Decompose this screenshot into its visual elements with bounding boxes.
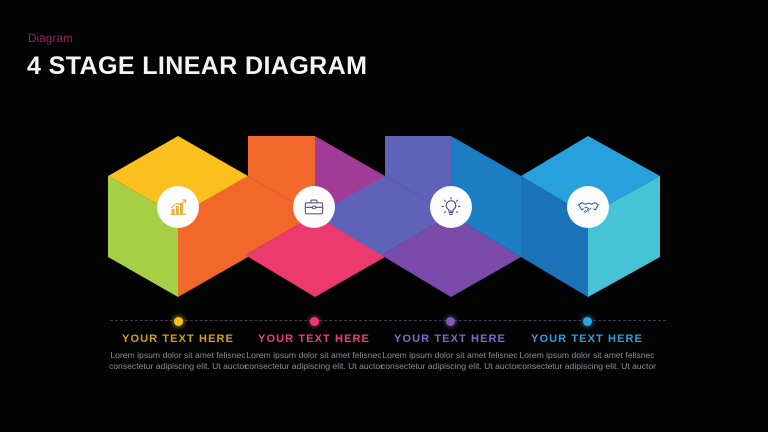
stage-1-icon-badge[interactable] [157, 186, 199, 228]
stage-2-heading: YOUR TEXT HERE [239, 333, 389, 345]
stage-4-icon-badge[interactable] [567, 186, 609, 228]
stage-1-dot[interactable] [174, 317, 183, 326]
stage-1-heading: YOUR TEXT HERE [103, 333, 253, 345]
stage-3-body: Lorem ipsum dolor sit amet felisnec cons… [375, 350, 525, 373]
stage-4-dot[interactable] [583, 317, 592, 326]
stage-3-heading: YOUR TEXT HERE [375, 333, 525, 345]
handshake-icon [577, 196, 600, 219]
growth-chart-icon [167, 196, 189, 218]
stage-2-dot[interactable] [310, 317, 319, 326]
slide-canvas: Diagram 4 STAGE LINEAR DIAGRAM [0, 0, 768, 432]
stage-2-body: Lorem ipsum dolor sit amet felisnec cons… [239, 350, 389, 373]
stage-4-body: Lorem ipsum dolor sit amet felisnec cons… [512, 350, 662, 373]
stage-3-icon-badge[interactable] [430, 186, 472, 228]
briefcase-icon [303, 196, 325, 218]
stage-3-caption: YOUR TEXT HERE Lorem ipsum dolor sit ame… [375, 333, 525, 373]
timeline-track [110, 320, 666, 323]
stage-4-heading: YOUR TEXT HERE [512, 333, 662, 345]
stage-2-icon-badge[interactable] [293, 186, 335, 228]
stage-1-caption: YOUR TEXT HERE Lorem ipsum dolor sit ame… [103, 333, 253, 373]
stage-1-body: Lorem ipsum dolor sit amet felisnec cons… [103, 350, 253, 373]
stage-3-dot[interactable] [446, 317, 455, 326]
stage-4-caption: YOUR TEXT HERE Lorem ipsum dolor sit ame… [512, 333, 662, 373]
stage-2-caption: YOUR TEXT HERE Lorem ipsum dolor sit ame… [239, 333, 389, 373]
lightbulb-icon [440, 196, 462, 218]
